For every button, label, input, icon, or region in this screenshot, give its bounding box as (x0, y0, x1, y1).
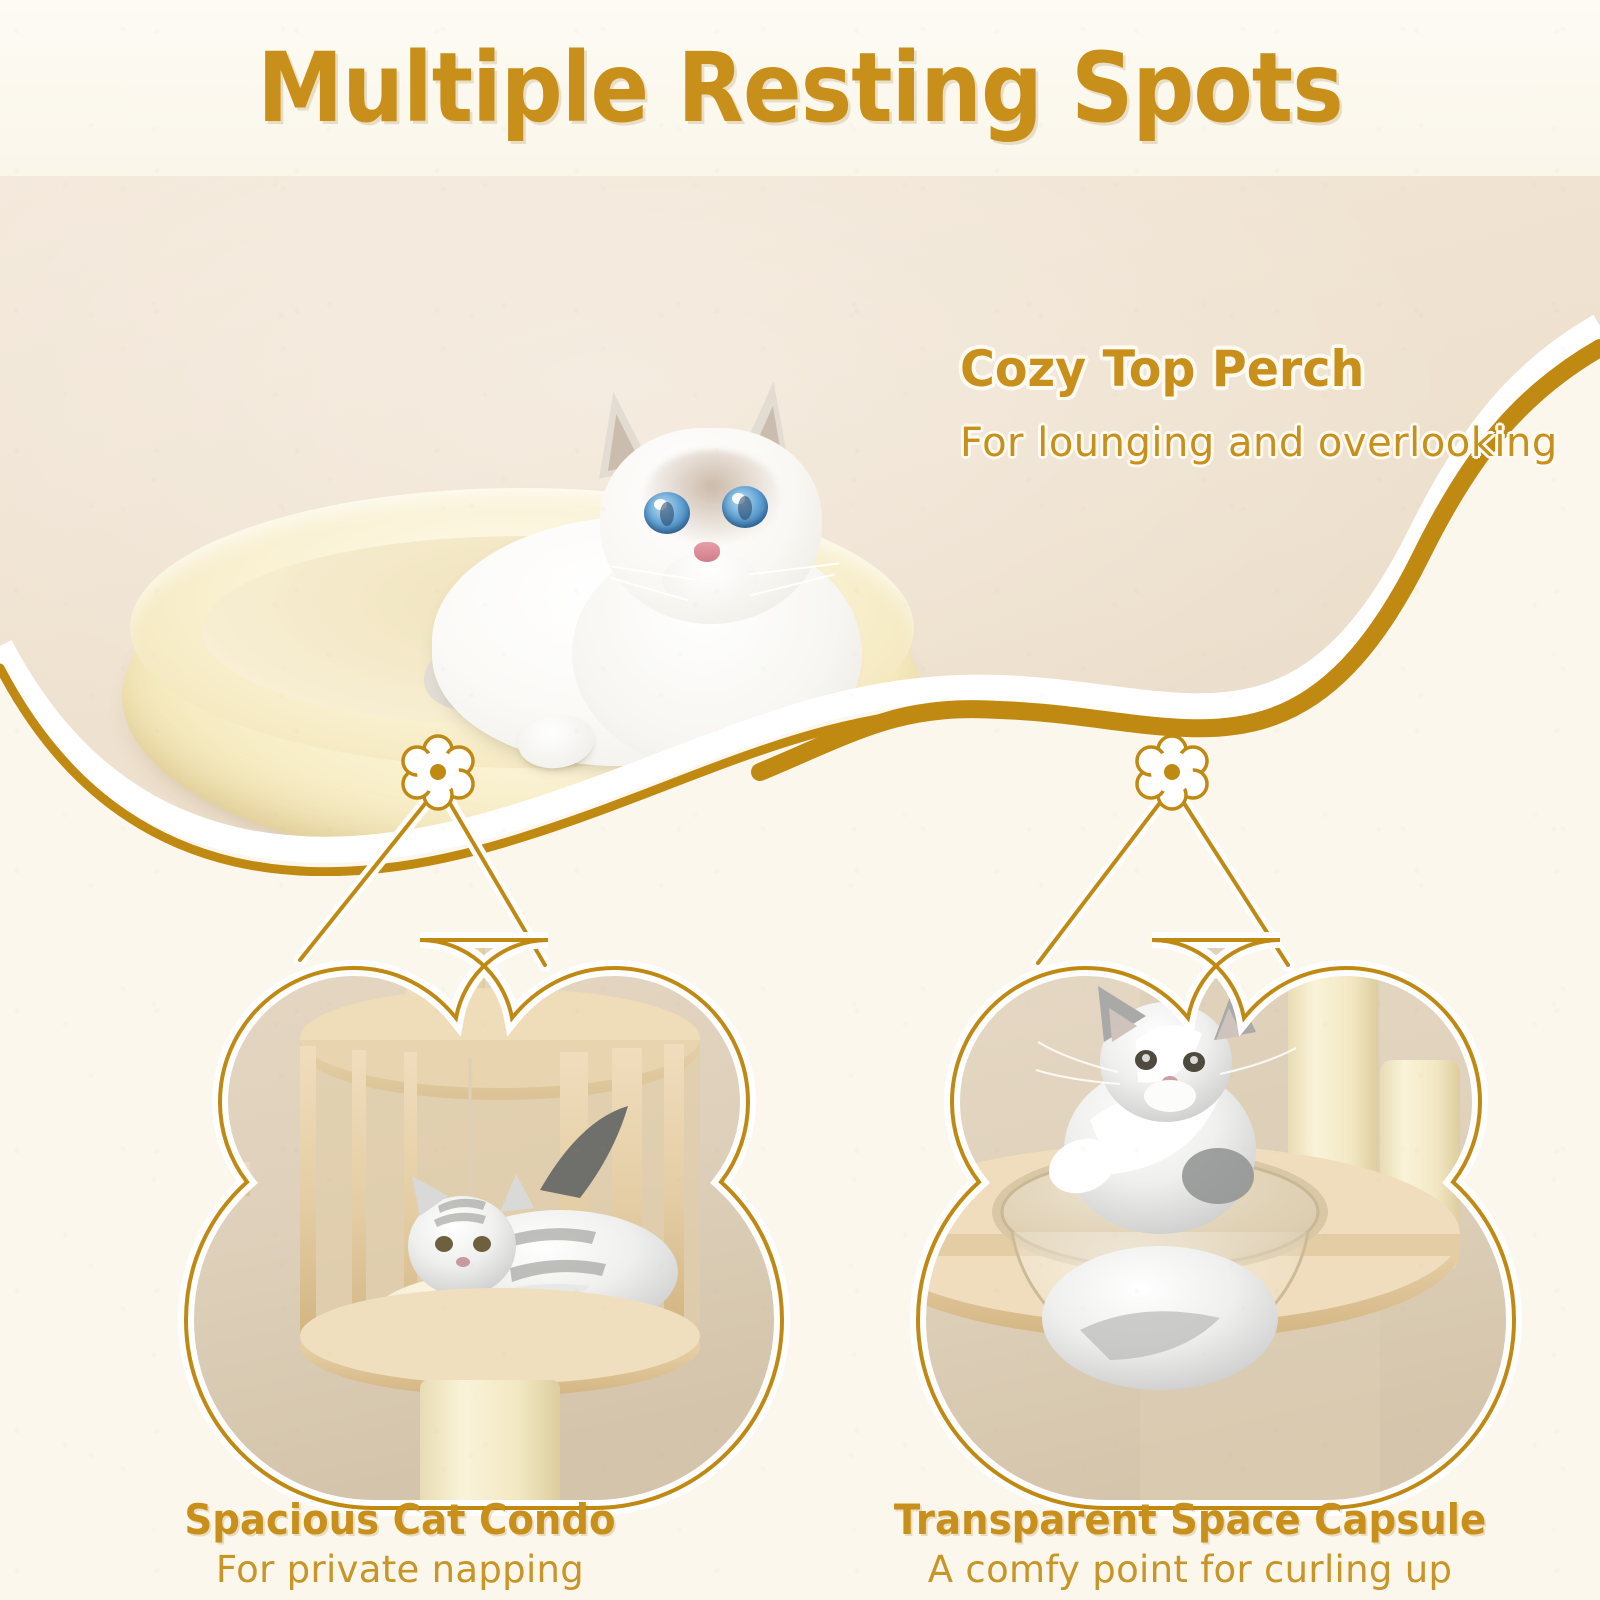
caption-heading: Transparent Space Capsule (840, 1498, 1539, 1542)
caption-space-capsule: Transparent Space Capsule A comfy point … (810, 1498, 1570, 1591)
callout-photo-cat-condo (60, 930, 820, 1520)
caption-subheading: For private napping (20, 1550, 780, 1591)
caption-subheading: A comfy point for curling up (810, 1550, 1570, 1591)
caption-heading: Spacious Cat Condo (50, 1498, 749, 1542)
flower-center-dot (1164, 764, 1180, 780)
caption-cat-condo: Spacious Cat Condo For private napping (20, 1498, 780, 1591)
flower-center-dot (430, 764, 446, 780)
callout-layer (0, 0, 1600, 1600)
flower-marker-left[interactable] (403, 736, 473, 809)
product-feature-poster: Cozy Top Perch For lounging and overlook… (0, 0, 1600, 1600)
flower-marker-right[interactable] (1137, 736, 1207, 809)
